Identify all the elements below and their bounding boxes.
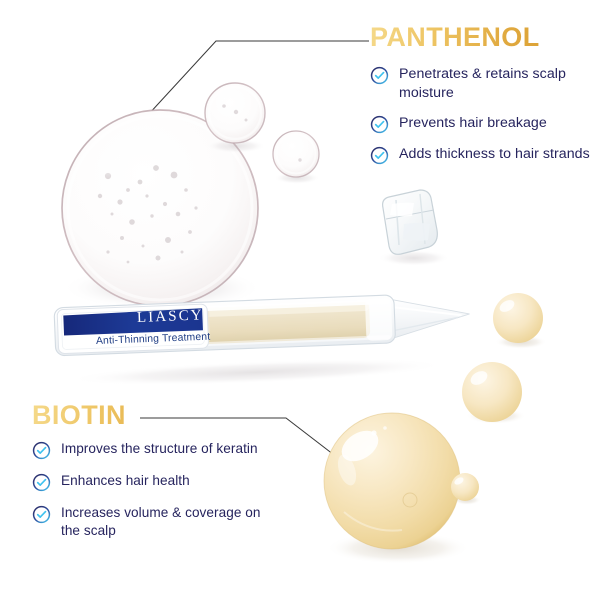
- check-circle-icon: [370, 66, 389, 85]
- biotin-title: BIOTIN: [32, 402, 267, 429]
- benefit-item: Enhances hair health: [32, 472, 267, 492]
- ampoule-subtitle: Anti-Thinning Treatment: [96, 332, 211, 347]
- ampoule-brand-name: LIASCY: [137, 307, 204, 327]
- benefit-text: Improves the structure of keratin: [61, 440, 258, 458]
- panthenol-benefit-list: Penetrates & retains scalp moisture Prev…: [370, 65, 590, 165]
- ingredient-biotin: BIOTIN Improves the structure of keratin…: [32, 402, 267, 552]
- benefit-text: Adds thickness to hair strands: [399, 145, 590, 164]
- clear-bubble-2: [273, 131, 320, 184]
- benefit-item: Penetrates & retains scalp moisture: [370, 65, 590, 103]
- clear-serum-droplet: [62, 110, 262, 310]
- gold-droplet-3: [451, 473, 481, 505]
- check-circle-icon: [32, 441, 51, 460]
- gold-serum-droplet: [324, 413, 470, 564]
- biotin-benefit-list: Improves the structure of keratin Enhanc…: [32, 440, 267, 540]
- broken-ampoule-glass-tip: [378, 190, 450, 266]
- infographic-canvas: LIASCY Anti-Thinning Treatment PANTHENOL…: [0, 0, 600, 600]
- benefit-item: Improves the structure of keratin: [32, 440, 267, 460]
- check-circle-icon: [32, 473, 51, 492]
- benefit-text: Enhances hair health: [61, 472, 190, 490]
- check-circle-icon: [32, 505, 51, 524]
- gold-droplet-2: [462, 362, 526, 424]
- benefit-text: Prevents hair breakage: [399, 114, 547, 133]
- ingredient-panthenol: PANTHENOL Penetrates & retains scalp moi…: [370, 24, 590, 176]
- check-circle-icon: [370, 146, 389, 165]
- benefit-text: Penetrates & retains scalp moisture: [399, 65, 590, 103]
- check-circle-icon: [370, 115, 389, 134]
- gold-droplet-1: [493, 293, 547, 349]
- benefit-item: Prevents hair breakage: [370, 114, 590, 134]
- panthenol-title: PANTHENOL: [370, 24, 590, 51]
- benefit-text: Increases volume & coverage on the scalp: [61, 504, 267, 540]
- panthenol-leader-line: [122, 41, 369, 142]
- clear-bubble-1: [205, 83, 266, 153]
- benefit-item: Increases volume & coverage on the scalp: [32, 504, 267, 540]
- benefit-item: Adds thickness to hair strands: [370, 145, 590, 165]
